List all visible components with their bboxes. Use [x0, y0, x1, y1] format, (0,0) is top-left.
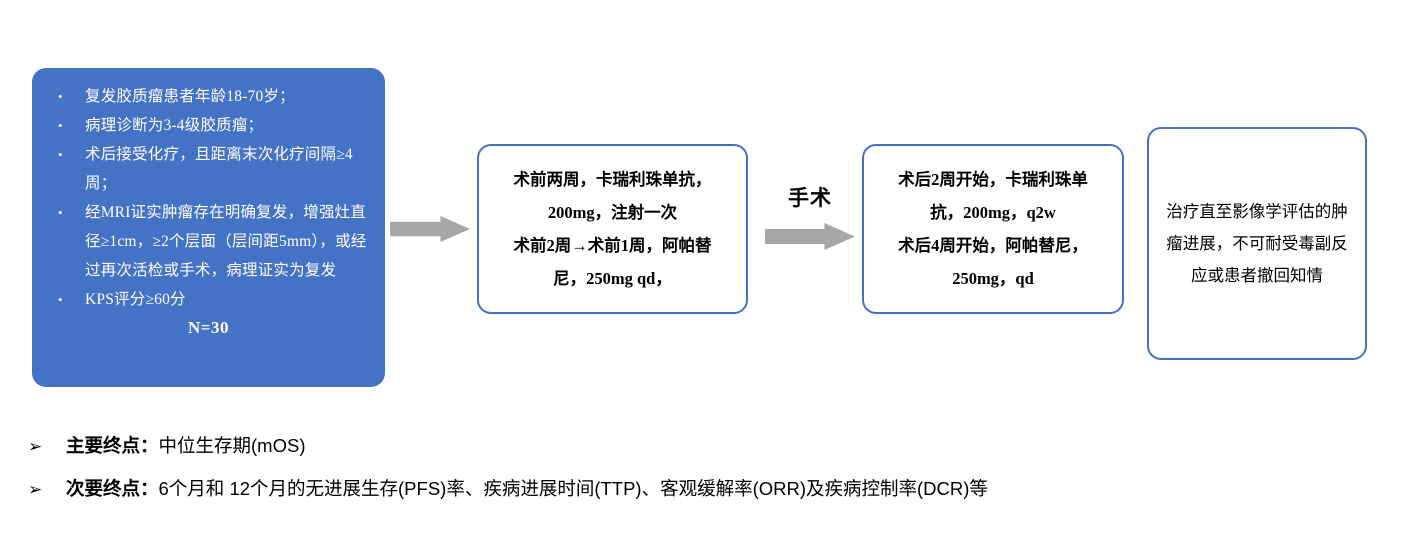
enrollment-count: N=30 [42, 318, 375, 338]
secondary-endpoint-row: ➢ 次要终点： 6个月和 12个月的无进展生存(PFS)率、疾病进展时间(TTP… [28, 475, 1368, 504]
endpoints-section: ➢ 主要终点： 中位生存期(mOS) ➢ 次要终点： 6个月和 12个月的无进展… [28, 432, 1368, 518]
list-item: 术后接受化疗，且距离末次化疗间隔≥4周； [42, 140, 375, 198]
treatment-line: 术前2周→术前1周，阿帕替 [514, 229, 712, 262]
flow-arrow-right-icon [390, 216, 470, 242]
postoperative-treatment-box: 术后2周开始，卡瑞利珠单 抗，200mg，q2w 术后4周开始，阿帕替尼， 25… [862, 144, 1124, 314]
maintenance-criteria-box: 治疗直至影像学评估的肿瘤进展，不可耐受毒副反应或患者撤回知情 [1147, 127, 1367, 360]
treatment-line: 术前两周，卡瑞利珠单抗， [514, 163, 712, 196]
eligibility-criteria-box: 复发胶质瘤患者年龄18-70岁； 病理诊断为3-4级胶质瘤； 术后接受化疗，且距… [32, 68, 385, 387]
primary-endpoint-label: 主要终点： [66, 432, 159, 460]
surgery-step-label: 手术 [775, 182, 845, 212]
preoperative-treatment-box: 术前两周，卡瑞利珠单抗， 200mg，注射一次 术前2周→术前1周，阿帕替 尼，… [477, 144, 748, 314]
primary-endpoint-row: ➢ 主要终点： 中位生存期(mOS) [28, 432, 1368, 461]
primary-endpoint-value: 中位生存期(mOS) [159, 432, 306, 460]
arrowhead-bullet-icon: ➢ [28, 476, 66, 504]
treatment-line: 术后4周开始，阿帕替尼， [898, 229, 1088, 262]
treatment-line: 250mg，qd [952, 262, 1034, 295]
list-item: 病理诊断为3-4级胶质瘤； [42, 111, 375, 140]
arrowhead-bullet-icon: ➢ [28, 433, 66, 461]
secondary-endpoint-value: 6个月和 12个月的无进展生存(PFS)率、疾病进展时间(TTP)、客观缓解率(… [159, 475, 988, 503]
secondary-endpoint-label: 次要终点： [66, 475, 159, 503]
list-item: 复发胶质瘤患者年龄18-70岁； [42, 82, 375, 111]
maintenance-text: 治疗直至影像学评估的肿瘤进展，不可耐受毒副反应或患者撤回知情 [1163, 196, 1351, 292]
flow-arrow-right-icon [765, 223, 855, 250]
list-item: KPS评分≥60分 [42, 285, 375, 314]
list-item: 经MRI证实肿瘤存在明确复发，增强灶直径≥1cm，≥2个层面（层间距5mm），或… [42, 198, 375, 285]
treatment-line: 尼，250mg qd， [553, 262, 672, 295]
treatment-line: 术后2周开始，卡瑞利珠单 [898, 163, 1088, 196]
treatment-line: 抗，200mg，q2w [930, 196, 1056, 229]
criteria-list: 复发胶质瘤患者年龄18-70岁； 病理诊断为3-4级胶质瘤； 术后接受化疗，且距… [42, 82, 375, 314]
treatment-line: 200mg，注射一次 [548, 196, 677, 229]
